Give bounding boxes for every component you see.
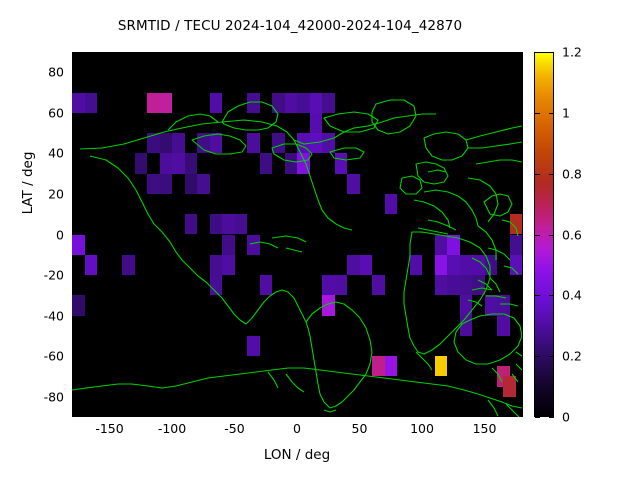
heatmap-cell: [503, 376, 516, 396]
heatmap-cell: [497, 295, 510, 315]
heatmap-cell: [185, 153, 198, 173]
x-tick-label: 100: [392, 421, 452, 436]
colorbar-tick-label: 0.4: [562, 288, 582, 303]
heatmap-cell: [272, 133, 285, 153]
x-tick-label: 150: [455, 421, 515, 436]
colorbar-tick: [535, 113, 540, 114]
heatmap-cell: [510, 235, 523, 255]
heatmap-cell: [310, 93, 323, 113]
heatmap-cell: [297, 153, 310, 173]
heatmap-cell: [460, 316, 473, 336]
heatmap-cell: [247, 235, 260, 255]
heatmap-cell: [260, 275, 273, 295]
colorbar-tick: [535, 235, 540, 236]
y-tick-label: -80: [0, 389, 64, 404]
heatmap-cell: [85, 93, 98, 113]
heatmap-cell: [322, 133, 335, 153]
colorbar-tick: [549, 174, 554, 175]
heatmap-cell-layer: [72, 52, 522, 417]
heatmap-cell: [247, 93, 260, 113]
heatmap-cell: [347, 174, 360, 194]
x-tick-label: -150: [80, 421, 140, 436]
colorbar-tick: [549, 235, 554, 236]
heatmap-cell: [235, 214, 248, 234]
x-tick-label: 0: [267, 421, 327, 436]
colorbar-tick: [535, 417, 540, 418]
heatmap-cell: [510, 255, 523, 275]
heatmap-cell: [297, 133, 310, 153]
heatmap-cell: [460, 255, 473, 275]
heatmap-cell: [435, 356, 448, 376]
colorbar-tick: [549, 113, 554, 114]
heatmap-cell: [147, 133, 160, 153]
heatmap-cell: [447, 255, 460, 275]
heatmap-cell: [222, 255, 235, 275]
heatmap-cell: [72, 93, 85, 113]
y-tick-label: 80: [0, 65, 64, 80]
colorbar-tick: [549, 295, 554, 296]
heatmap-cell: [210, 255, 223, 275]
heatmap-cell: [172, 153, 185, 173]
colorbar-tick: [549, 417, 554, 418]
heatmap-cell: [435, 275, 448, 295]
heatmap-cell: [210, 133, 223, 153]
heatmap-cell: [460, 295, 473, 315]
colorbar-tick: [549, 52, 554, 53]
x-tick-label: -50: [205, 421, 265, 436]
heatmap-cell: [147, 174, 160, 194]
heatmap-cell: [122, 255, 135, 275]
heatmap-cell: [160, 153, 173, 173]
heatmap-cell: [360, 255, 373, 275]
heatmap-cell: [185, 174, 198, 194]
heatmap-cell: [385, 356, 398, 376]
heatmap-cell: [460, 275, 473, 295]
heatmap-cell: [322, 295, 335, 315]
heatmap-cell: [197, 174, 210, 194]
heatmap-cell: [447, 275, 460, 295]
heatmap-cell: [485, 255, 498, 275]
heatmap-cell: [335, 153, 348, 173]
y-tick-label: 60: [0, 105, 64, 120]
y-tick-label: -40: [0, 308, 64, 323]
map-plot-area: [72, 52, 523, 417]
y-tick-label: 40: [0, 146, 64, 161]
heatmap-cell: [247, 336, 260, 356]
heatmap-cell: [285, 153, 298, 173]
heatmap-cell: [510, 214, 523, 234]
colorbar-tick: [535, 174, 540, 175]
heatmap-cell: [160, 174, 173, 194]
heatmap-cell: [447, 235, 460, 255]
heatmap-cell: [210, 93, 223, 113]
heatmap-cell: [310, 113, 323, 133]
heatmap-cell: [72, 235, 85, 255]
heatmap-cell: [260, 153, 273, 173]
heatmap-cell: [497, 316, 510, 336]
heatmap-cell: [160, 93, 173, 113]
heatmap-cell: [472, 255, 485, 275]
heatmap-cell: [160, 133, 173, 153]
colorbar-tick-label: 0.6: [562, 227, 582, 242]
heatmap-cell: [222, 214, 235, 234]
heatmap-cell: [335, 275, 348, 295]
heatmap-cell: [485, 295, 498, 315]
chart-figure: SRMTID / TECU 2024-104_42000-2024-104_42…: [0, 0, 640, 480]
colorbar-tick-label: 0.2: [562, 349, 582, 364]
colorbar-tick-label: 0.8: [562, 166, 582, 181]
x-tick-label: -100: [142, 421, 202, 436]
heatmap-cell: [310, 133, 323, 153]
colorbar-tick-label: 1: [562, 105, 570, 120]
heatmap-cell: [210, 275, 223, 295]
y-tick-label: 0: [0, 227, 64, 242]
heatmap-cell: [472, 275, 485, 295]
colorbar-tick: [535, 295, 540, 296]
colorbar-tick-label: 0: [562, 410, 570, 425]
heatmap-cell: [372, 275, 385, 295]
heatmap-cell: [322, 93, 335, 113]
heatmap-cell: [372, 356, 385, 376]
heatmap-cell: [147, 93, 160, 113]
heatmap-cell: [435, 255, 448, 275]
y-tick-label: 20: [0, 186, 64, 201]
y-tick-label: -60: [0, 349, 64, 364]
heatmap-cell: [172, 133, 185, 153]
colorbar-tick: [535, 52, 540, 53]
x-tick-label: 50: [330, 421, 390, 436]
heatmap-cell: [385, 194, 398, 214]
x-axis-label: LON / deg: [72, 447, 522, 463]
heatmap-cell: [72, 295, 85, 315]
heatmap-cell: [347, 255, 360, 275]
heatmap-cell: [197, 133, 210, 153]
colorbar-tick-label: 1.2: [562, 45, 582, 60]
heatmap-cell: [210, 214, 223, 234]
heatmap-cell: [85, 255, 98, 275]
heatmap-cell: [185, 214, 198, 234]
colorbar-tick: [535, 356, 540, 357]
y-tick-label: -20: [0, 268, 64, 283]
heatmap-cell: [247, 133, 260, 153]
heatmap-cell: [285, 93, 298, 113]
heatmap-cell: [222, 235, 235, 255]
heatmap-cell: [322, 275, 335, 295]
heatmap-cell: [135, 153, 148, 173]
colorbar-tick: [549, 356, 554, 357]
chart-title: SRMTID / TECU 2024-104_42000-2024-104_42…: [0, 18, 580, 34]
heatmap-cell: [435, 235, 448, 255]
heatmap-cell: [410, 255, 423, 275]
heatmap-cell: [297, 93, 310, 113]
heatmap-cell: [272, 93, 285, 113]
